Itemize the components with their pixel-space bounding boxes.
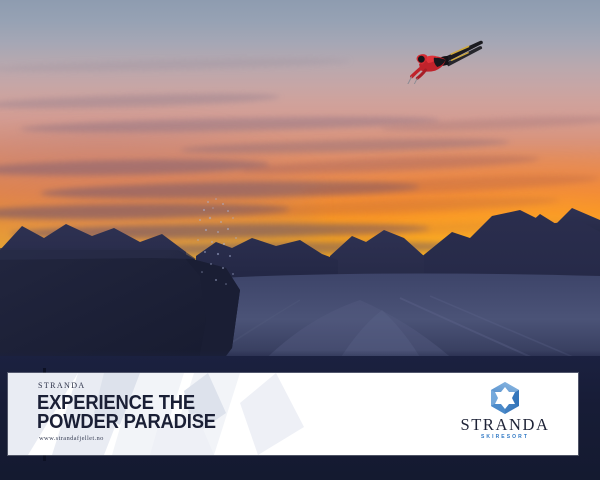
stranda-logo: STRANDA SKIRESORT: [450, 381, 560, 447]
info-banner: STRANDA EXPERIENCE THEPOWDER PARADISE ww…: [8, 373, 578, 455]
snowflake-hexagon-icon: [488, 381, 522, 415]
crop-tick-bottom: [43, 455, 46, 461]
banner-headline: EXPERIENCE THEPOWDER PARADISE: [37, 394, 216, 432]
logo-tagline: SKIRESORT: [450, 435, 560, 440]
sunset-sky: [0, 0, 600, 275]
ski-resort-poster: STRANDA EXPERIENCE THEPOWDER PARADISE ww…: [0, 0, 600, 480]
headline-line-2: POWDER PARADISE: [37, 411, 216, 433]
logo-wordmark: STRANDA: [450, 417, 560, 434]
banner-url[interactable]: www.strandafjellet.no: [39, 436, 104, 443]
banner-eyebrow: STRANDA: [38, 382, 86, 390]
